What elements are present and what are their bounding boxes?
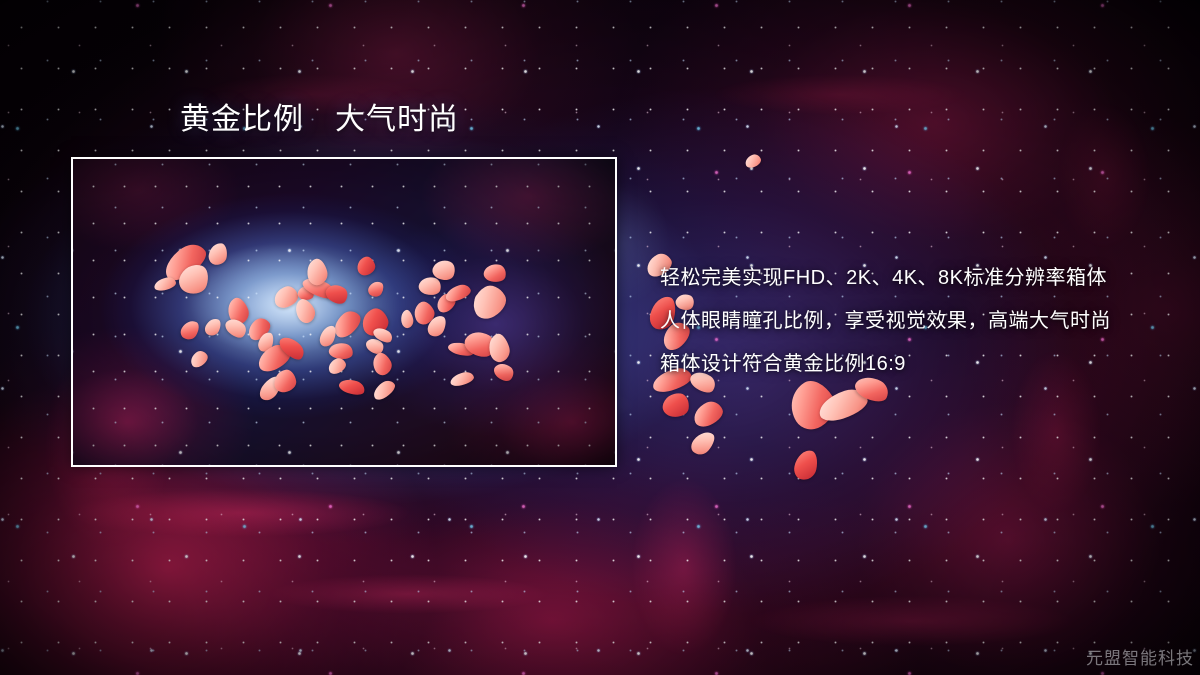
watermark-label: 元盟智能科技 xyxy=(1086,644,1194,669)
flower-petal xyxy=(688,427,719,458)
preview-vignette xyxy=(73,159,615,465)
body-line-2: 人体眼睛瞳孔比例，享受视觉效果，高端大气时尚 xyxy=(660,300,1180,343)
flower-petal xyxy=(743,153,762,170)
preview-image-frame xyxy=(71,157,617,467)
flower-petal xyxy=(690,398,726,430)
flower-petal xyxy=(792,448,820,482)
body-line-1: 轻松完美实现FHD、2K、4K、8K标准分辨率箱体 xyxy=(660,257,1180,300)
slide-title: 黄金比例 大气时尚 xyxy=(180,101,459,139)
presentation-slide: 黄金比例 大气时尚 轻松完美实现FHD、2K、4K、8K标准分辨率箱体 人体眼睛… xyxy=(0,0,1200,675)
body-line-3: 箱体设计符合黄金比例16:9 xyxy=(660,343,1180,386)
body-copy-block: 轻松完美实现FHD、2K、4K、8K标准分辨率箱体 人体眼睛瞳孔比例，享受视觉效… xyxy=(660,257,1180,386)
flower-petal xyxy=(661,391,690,418)
